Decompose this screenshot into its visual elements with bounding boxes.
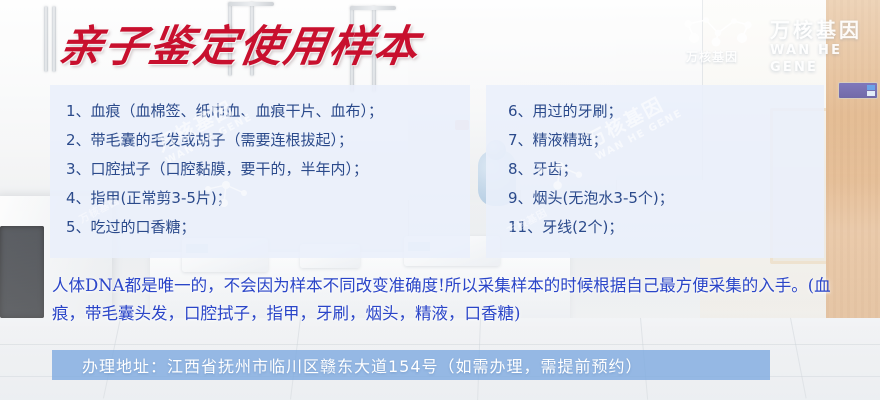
page-title: 亲子鉴定使用样本 xyxy=(55,12,425,74)
address-text: 办理地址：江西省抚州市临川区赣东大道154号（如需办理，需提前预约） xyxy=(52,353,643,377)
list-item: 4、指甲(正常剪3-5片)； xyxy=(66,184,470,213)
brand-logo: 万核基因 万核基因 WAN HE GENE xyxy=(676,14,872,70)
list-item: 1、血痕（血棉签、纸巾血、血痕干片、血布）； xyxy=(66,97,470,126)
logo-en-text: WAN HE GENE xyxy=(770,42,872,76)
list-item: 7、精液精斑； xyxy=(508,126,824,155)
logo-mark-label: 万核基因 xyxy=(686,48,738,65)
list-item: 2、带毛囊的毛发或胡子（需要连根拔起）； xyxy=(66,126,470,155)
sample-list-left: 1、血痕（血棉签、纸巾血、血痕干片、血布）； 2、带毛囊的毛发或胡子（需要连根拔… xyxy=(50,85,470,242)
sample-list-panel-left: 万核基因 WAN HE GENE 万核基因 1、血痕（血棉签、纸巾血、血痕干片、… xyxy=(50,85,470,258)
poster-root: 万核基因 万核基因 WAN HE GENE 亲子鉴定使用样本 万核基因 WAN … xyxy=(0,0,880,400)
list-item: 5、吃过的口香糖； xyxy=(66,213,470,242)
list-item: 8、牙齿； xyxy=(508,155,824,184)
sample-list-panel-right: 万核基因 WAN HE GENE 万核基因 6、用过的牙刷； 7、精液精斑； 8… xyxy=(486,85,824,258)
list-item: 6、用过的牙刷； xyxy=(508,97,824,126)
list-item: 11、牙线(2个)； xyxy=(508,213,824,242)
logo-cn-text: 万核基因 xyxy=(770,18,872,42)
list-item: 9、烟头(无泡水3-5个)； xyxy=(508,184,824,213)
address-bar: 办理地址：江西省抚州市临川区赣东大道154号（如需办理，需提前预约） xyxy=(52,350,770,380)
sample-list-right: 6、用过的牙刷； 7、精液精斑； 8、牙齿； 9、烟头(无泡水3-5个)； 11… xyxy=(486,85,824,242)
description-paragraph: 人体DNA都是唯一的，不会因为样本不同改变准确度!所以采集样本的时候根据自己最方… xyxy=(52,272,842,328)
list-item: 3、口腔拭子（口腔黏膜，要干的，半年内）； xyxy=(66,155,470,184)
logo-wordmark: 万核基因 WAN HE GENE xyxy=(770,18,872,76)
